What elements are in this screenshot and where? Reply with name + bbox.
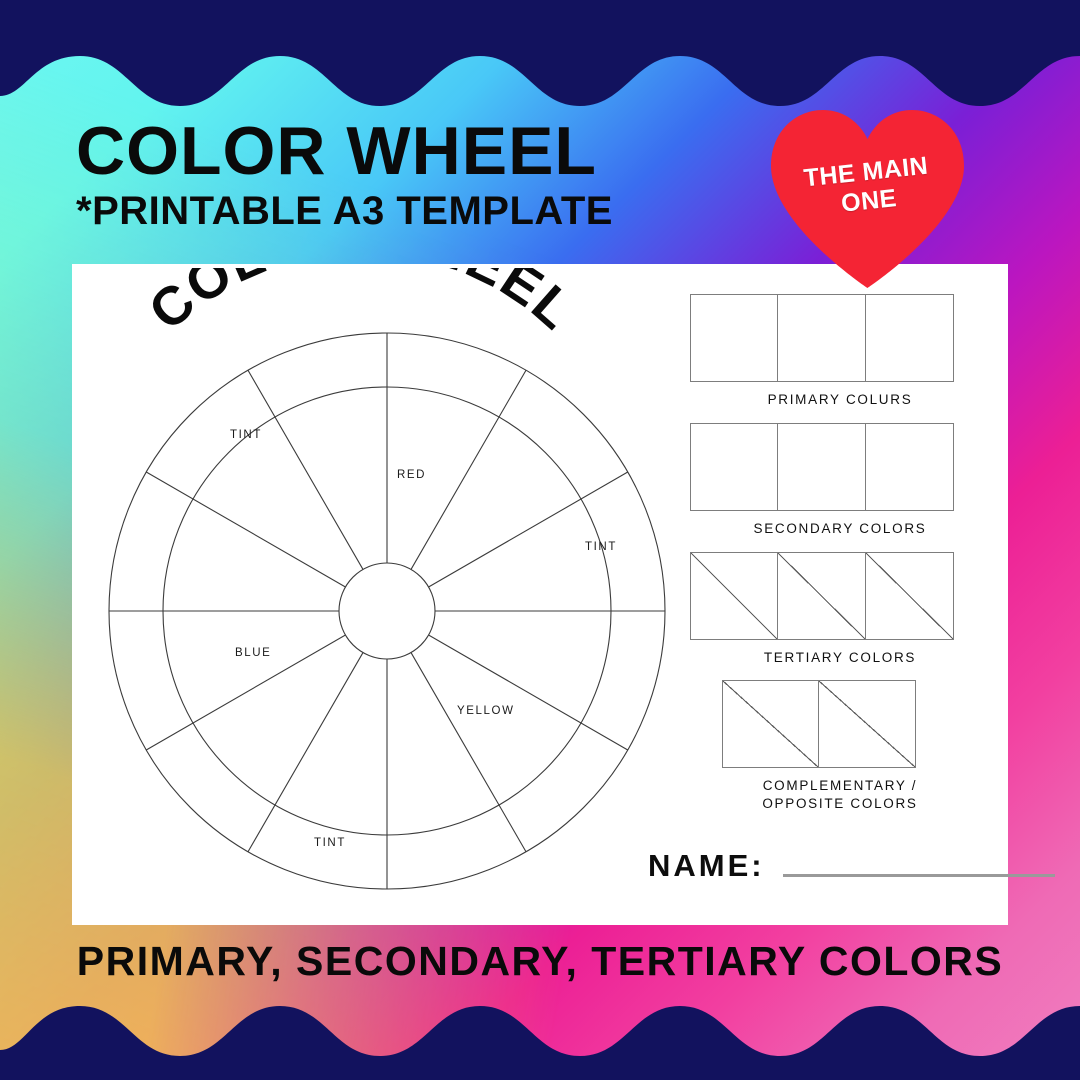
swatch-cell-split[interactable] [866, 552, 954, 640]
wheel-label-red: RED [397, 469, 426, 481]
swatch-cell-split[interactable] [778, 552, 866, 640]
wheel-label-tint-right: TINT [585, 541, 617, 553]
footer-caption: PRIMARY, SECONDARY, TERTIARY COLORS [0, 938, 1080, 985]
legend-column: PRIMARY COLURS SECONDARY COLORS TERTIARY… [690, 294, 990, 827]
swatch-row-secondary[interactable] [690, 423, 990, 511]
legend-caption-secondary: SECONDARY COLORS [690, 520, 990, 538]
legend-group-complementary: COMPLEMENTARY /OPPOSITE COLORS [690, 680, 990, 813]
wheel-label-blue: BLUE [235, 647, 271, 659]
color-wheel-area: COLOR WHEEL [72, 264, 672, 925]
wheel-label-tint-bottom: TINT [314, 837, 346, 849]
page-subtitle: *PRINTABLE A3 TEMPLATE [76, 189, 776, 234]
the-main-one-badge[interactable]: THE MAIN ONE [765, 106, 970, 291]
swatch-cell[interactable] [778, 294, 866, 382]
legend-group-tertiary: TERTIARY COLORS [690, 552, 990, 667]
legend-caption-primary: PRIMARY COLURS [690, 391, 990, 409]
swatch-cell[interactable] [866, 423, 954, 511]
wheel-label-tint-upper-left: TINT [230, 429, 262, 441]
legend-group-secondary: SECONDARY COLORS [690, 423, 990, 538]
swatch-cell[interactable] [690, 423, 778, 511]
swatch-row-primary[interactable] [690, 294, 990, 382]
swatch-cell-split[interactable] [690, 552, 778, 640]
swatch-cell-split[interactable] [722, 680, 819, 768]
top-wave-band [0, 0, 1080, 120]
name-field[interactable]: NAME: [648, 848, 1055, 884]
swatch-cell[interactable] [778, 423, 866, 511]
swatch-cell[interactable] [690, 294, 778, 382]
legend-caption-tertiary: TERTIARY COLORS [690, 649, 990, 667]
badge-line-2: ONE [840, 184, 898, 218]
swatch-row-tertiary[interactable] [690, 552, 990, 640]
legend-group-primary: PRIMARY COLURS [690, 294, 990, 409]
worksheet-card: COLOR WHEEL [72, 264, 1008, 925]
swatch-cell-split[interactable] [819, 680, 916, 768]
swatch-row-complementary[interactable] [722, 680, 990, 768]
legend-caption-complementary: COMPLEMENTARY /OPPOSITE COLORS [690, 777, 990, 813]
page-title: COLOR WHEEL [76, 118, 776, 185]
color-wheel-diagram[interactable]: TINT RED TINT YELLOW BLUE TINT [102, 326, 672, 896]
name-input-rule[interactable] [783, 874, 1055, 877]
wheel-label-yellow: YELLOW [457, 705, 515, 717]
headline-block: COLOR WHEEL *PRINTABLE A3 TEMPLATE [76, 118, 776, 234]
swatch-cell[interactable] [866, 294, 954, 382]
name-label: NAME: [648, 848, 765, 884]
